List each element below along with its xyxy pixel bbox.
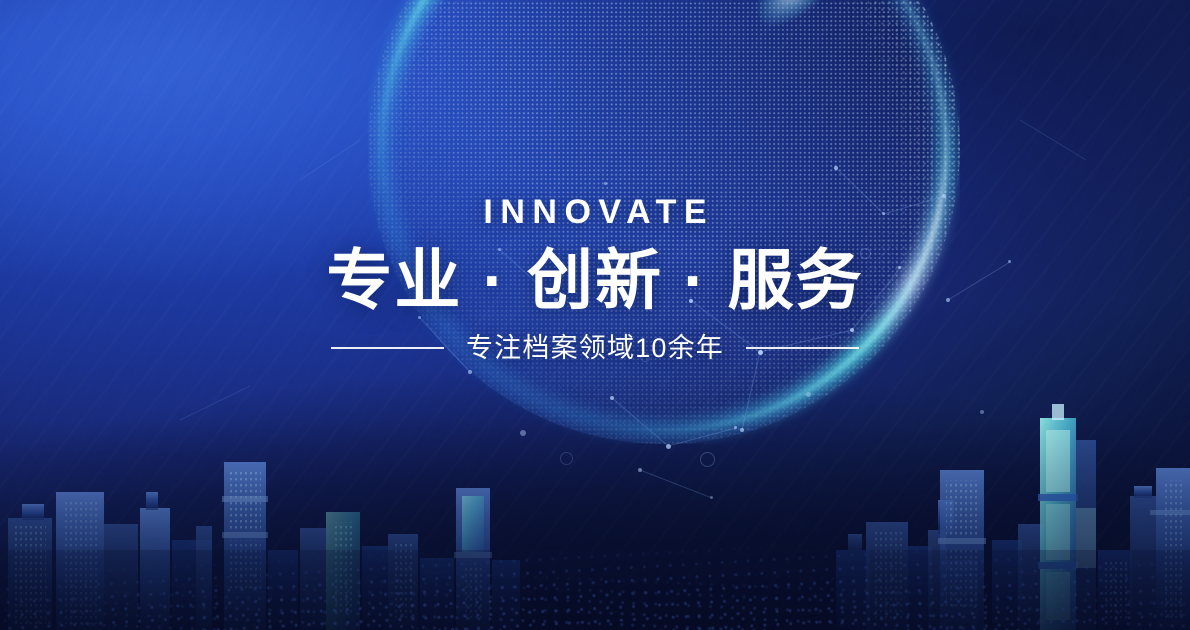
divider-line-right — [746, 347, 859, 349]
hero-banner: INNOVATE 专业 · 创新 · 服务 专注档案领域10余年 — [0, 0, 1190, 630]
particle-wave — [0, 420, 1190, 630]
page-title: 专业 · 创新 · 服务 — [0, 241, 1190, 319]
subtitle-row: 专注档案领域10余年 — [0, 331, 1190, 365]
divider-line-left — [331, 347, 444, 349]
hero-content: INNOVATE 专业 · 创新 · 服务 专注档案领域10余年 — [0, 0, 1190, 365]
wave-shading — [0, 420, 1190, 630]
eyebrow-text: INNOVATE — [0, 192, 1190, 232]
subtitle-text: 专注档案领域10余年 — [466, 331, 724, 365]
